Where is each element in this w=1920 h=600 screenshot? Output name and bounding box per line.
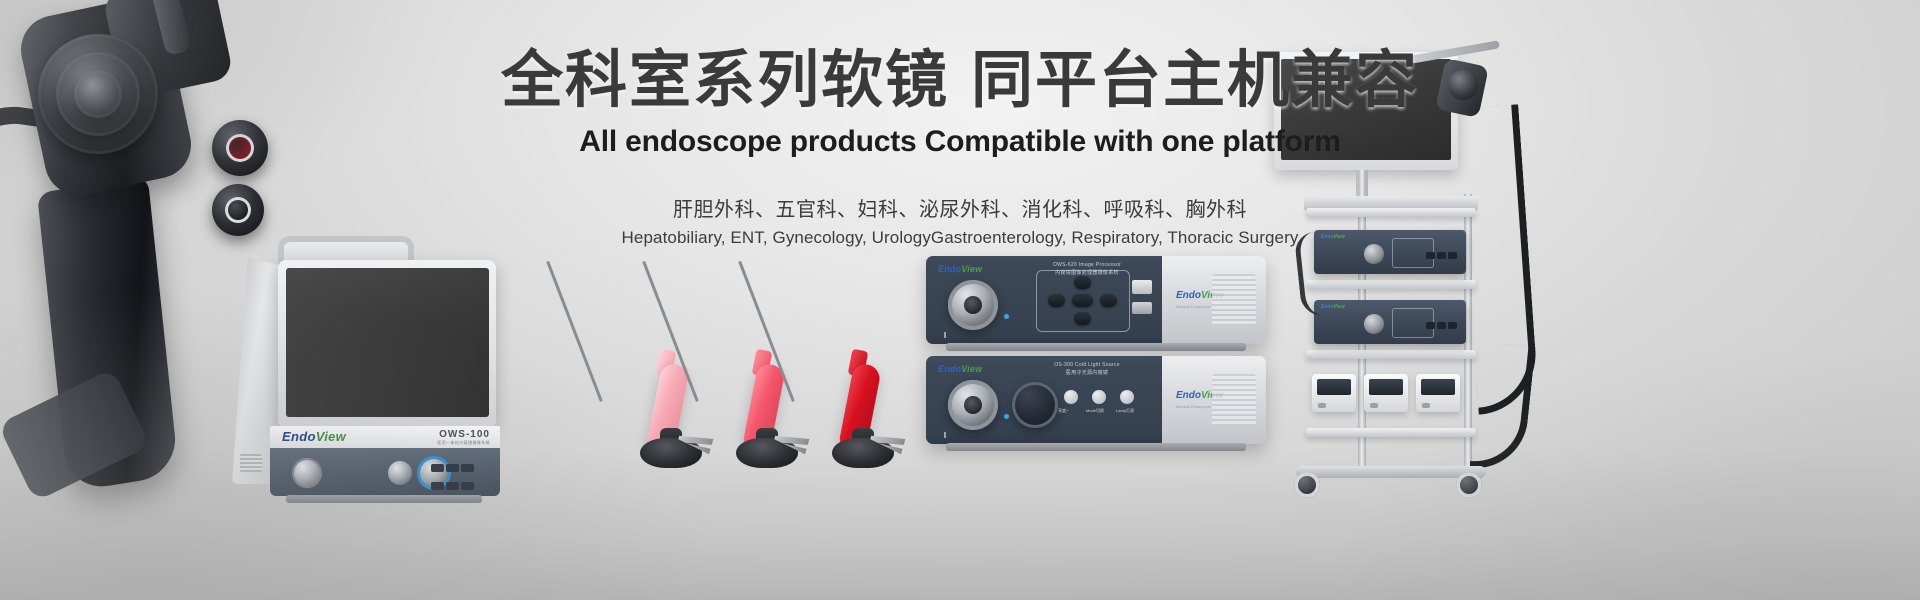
cart-processor-buttons[interactable] [1425,246,1458,264]
banner-text-block: 全科室系列软镜同平台主机兼容 All endoscope products Co… [0,48,1920,248]
cart-caster-right [1456,472,1482,498]
product-banner: EndoView OWS-100 医用一体化内窥镜摄像系统 [0,0,1920,600]
light-source-base-feet [946,443,1246,451]
headline-segment-1: 全科室系列软镜 [501,46,949,115]
workstation-brand-suffix: View [316,429,346,444]
cart-base-plate [1296,466,1486,478]
cart-light-source-unit: EndoView [1314,300,1466,344]
workstation-key [431,464,444,472]
light-source-brightness-label: 亮度+ [1058,408,1068,414]
cart-caster-left [1294,472,1320,498]
processor-title-label: OWS-620 Image Processor [1022,262,1152,268]
light-source-brightness-button[interactable] [1064,390,1078,404]
processor-waveform-icon [942,332,964,338]
workstation-brand-logo: EndoView [282,429,346,444]
workstation-base-foot [286,495,482,503]
laparoscopic-instrument-red [784,252,934,482]
stacked-processor-units: EndoView OWS-620 Image Processor 内窥镜图像处理… [926,256,1272,452]
cart-processor-button [1426,252,1435,259]
cold-light-source-unit: EndoView OS-300 Cold Light Source 医用冷光源内… [926,356,1266,444]
accessory-display-2 [1369,379,1403,395]
department-list-english: Hepatobiliary, ENT, Gynecology, UrologyG… [0,228,1920,248]
cart-light-source-socket [1364,314,1384,334]
light-source-lamp-button[interactable] [1120,390,1134,404]
workstation-key [431,482,444,490]
processor-brand-suffix: View [961,264,982,274]
processor-sd-slot [1132,302,1152,314]
workstation-key [446,464,459,472]
processor-front-panel: EndoView OWS-620 Image Processor 内窥镜图像处理… [926,256,1162,344]
workstation-scope-connector-port [292,458,322,488]
workstation-front-connector-panel [270,448,500,496]
cart-accessory-box-2 [1364,374,1408,412]
cart-processor-button [1437,252,1446,259]
cart-shelf-4 [1306,428,1476,437]
cart-light-button [1437,322,1446,329]
cart-light-source-buttons[interactable] [1425,316,1458,334]
processor-side-brand-prefix: Endo [1176,290,1201,301]
workstation-monitor-bezel [278,260,496,426]
workstation-model-sublabel: 医用一体化内窥镜摄像系统 [437,440,490,446]
processor-right-button[interactable] [1100,294,1117,307]
processor-side-sublabel: Medical Endoscope [1176,304,1211,309]
accessory-button-3 [1422,403,1430,408]
workstation-key [446,482,459,490]
banner-subheadline: All endoscope products Compatible with o… [0,125,1920,159]
processor-left-button[interactable] [1048,294,1065,307]
cart-light-button [1448,322,1457,329]
workstation-display-screen [286,268,489,417]
light-source-fiber-socket [948,380,998,430]
workstation-vent-grille [240,454,262,472]
cart-shelf-3 [1306,350,1476,359]
processor-down-button[interactable] [1074,312,1091,325]
image-processor-unit: EndoView OWS-620 Image Processor 内窥镜图像处理… [926,256,1266,344]
light-source-brand-prefix: Endo [938,364,961,374]
workstation-keypad [430,460,492,486]
processor-menu-button[interactable] [1072,294,1093,307]
light-source-brand-suffix: View [961,364,982,374]
processor-base-feet [946,343,1246,351]
light-source-mode-button[interactable] [1092,390,1106,404]
light-source-front-panel: EndoView OS-300 Cold Light Source 医用冷光源内… [926,356,1162,444]
department-list-chinese: 肝胆外科、五官科、妇科、泌尿外科、消化科、呼吸科、胸外科 [0,193,1920,222]
light-source-brightness-knob[interactable] [1012,382,1058,428]
light-source-brand-logo: EndoView [938,364,982,374]
workstation-light-connector-port [388,461,412,485]
cart-processor-button [1448,252,1457,259]
light-source-vent-grille [1212,374,1256,426]
accessory-display-3 [1421,379,1455,395]
cart-accessory-box-3 [1416,374,1460,412]
headline-segment-2: 同平台主机兼容 [971,46,1419,115]
workstation-key [461,482,474,490]
processor-vent-grille [1212,274,1256,326]
accessory-button-2 [1370,403,1378,408]
processor-scope-socket [948,280,998,330]
cart-accessory-box-1 [1312,374,1356,412]
light-source-side-brand-prefix: Endo [1176,390,1201,401]
processor-brand-prefix: Endo [938,264,961,274]
light-source-mode-label: Mode切换 [1086,408,1104,414]
processor-up-button[interactable] [1074,276,1091,289]
light-source-subtitle-label: 医用冷光源内窥镜 [1022,369,1152,376]
light-source-lamp-label: Lamp灯源 [1116,408,1134,414]
accessory-display-1 [1317,379,1351,395]
processor-usb-port [1132,280,1152,294]
all-in-one-endoscopy-workstation: EndoView OWS-100 医用一体化内窥镜摄像系统 [232,236,500,496]
light-source-title-label: OS-300 Cold Light Source [1022,362,1152,368]
accessory-button-1 [1318,403,1326,408]
workstation-key [461,464,474,472]
processor-power-indicator [1004,314,1009,319]
light-source-waveform-icon [942,432,964,438]
light-source-power-indicator [1004,414,1009,419]
cart-light-button [1426,322,1435,329]
light-source-side-sublabel: Medical Endoscope [1176,404,1211,409]
processor-brand-logo: EndoView [938,264,982,274]
workstation-brand-strip: EndoView OWS-100 医用一体化内窥镜摄像系统 [270,426,500,448]
workstation-brand-prefix: Endo [282,429,316,444]
workstation-model-label: OWS-100 [439,429,490,440]
banner-headline: 全科室系列软镜同平台主机兼容 [0,48,1920,115]
